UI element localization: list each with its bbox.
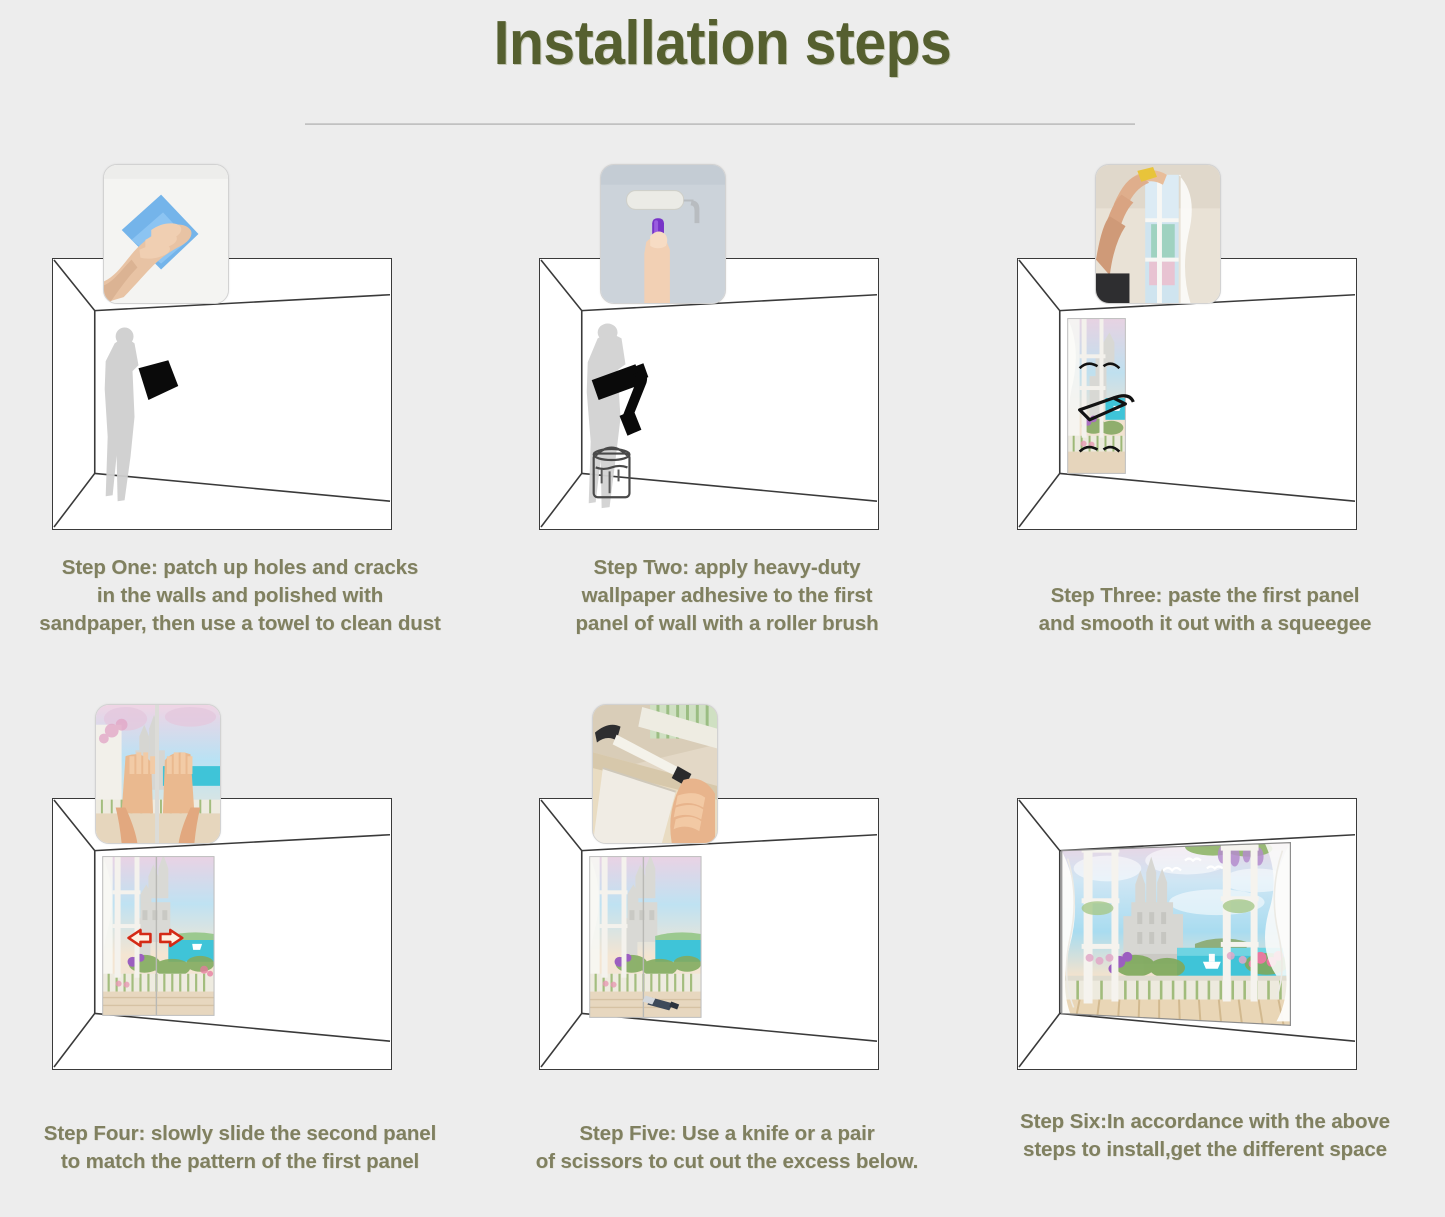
- caption-line: Step Three: paste the first panel: [965, 582, 1445, 610]
- caption-line: and smooth it out with a squeegee: [965, 610, 1445, 638]
- step-card-two: Step Two: apply heavy-duty wallpaper adh…: [487, 150, 967, 638]
- step-five-caption: Step Five: Use a knife or a pair of scis…: [487, 1120, 967, 1176]
- step-two-illustration: [487, 150, 967, 550]
- hand-wiping-wall-with-blue-cloth-photo: [103, 164, 229, 304]
- step-four-illustration: [0, 690, 480, 1090]
- header-divider: [305, 123, 1135, 125]
- step-three-illustration: [965, 150, 1445, 550]
- caption-line: Step Two: apply heavy-duty: [487, 554, 967, 582]
- page-title: Installation steps: [58, 8, 1387, 79]
- step-card-five: Step Five: Use a knife or a pair of scis…: [487, 690, 967, 1176]
- caption-line: sandpaper, then use a towel to clean dus…: [0, 610, 480, 638]
- caption-line: Step Four: slowly slide the second panel: [0, 1120, 480, 1148]
- installation-steps-page: Installation steps: [0, 0, 1445, 1217]
- step-card-three: Step Three: paste the first panel and sm…: [965, 150, 1445, 638]
- caption-line: Step Six:In accordance with the above: [965, 1108, 1445, 1136]
- step-card-six: Step Six:In accordance with the above st…: [965, 690, 1445, 1164]
- caption-line: panel of wall with a roller brush: [487, 610, 967, 638]
- caption-line: Step One: patch up holes and cracks: [0, 554, 480, 582]
- red-arrow-left-icon: [160, 930, 182, 946]
- step-two-caption: Step Two: apply heavy-duty wallpaper adh…: [487, 554, 967, 638]
- caption-line: Step Five: Use a knife or a pair: [487, 1120, 967, 1148]
- step-one-illustration: [0, 150, 480, 550]
- hand-cutting-mural-with-knife-photo: [592, 704, 718, 844]
- step-six-illustration: [965, 690, 1445, 1090]
- caption-line: steps to install,get the different space: [965, 1136, 1445, 1164]
- step-five-illustration: [487, 690, 967, 1090]
- room-box: [1017, 798, 1357, 1070]
- step-card-one: Step One: patch up holes and cracks in t…: [0, 150, 480, 638]
- caption-line: wallpaper adhesive to the first: [487, 582, 967, 610]
- caption-line: to match the pattern of the first panel: [0, 1148, 480, 1176]
- step-three-caption: Step Three: paste the first panel and sm…: [965, 582, 1445, 638]
- red-arrow-right-icon: [129, 930, 151, 946]
- step-one-caption: Step One: patch up holes and cracks in t…: [0, 554, 480, 638]
- step-card-four: Step Four: slowly slide the second panel…: [0, 690, 480, 1176]
- mural-complete: [1018, 799, 1356, 1069]
- step-six-caption: Step Six:In accordance with the above st…: [965, 1108, 1445, 1164]
- caption-line: in the walls and polished with: [0, 582, 480, 610]
- caption-line: of scissors to cut out the excess below.: [487, 1148, 967, 1176]
- hand-with-paint-roller-on-wall-photo: [600, 164, 726, 304]
- step-four-caption: Step Four: slowly slide the second panel…: [0, 1120, 480, 1176]
- person-smoothing-mural-with-squeegee-photo: [1095, 164, 1221, 304]
- two-hands-sliding-mural-panels-photo: [95, 704, 221, 844]
